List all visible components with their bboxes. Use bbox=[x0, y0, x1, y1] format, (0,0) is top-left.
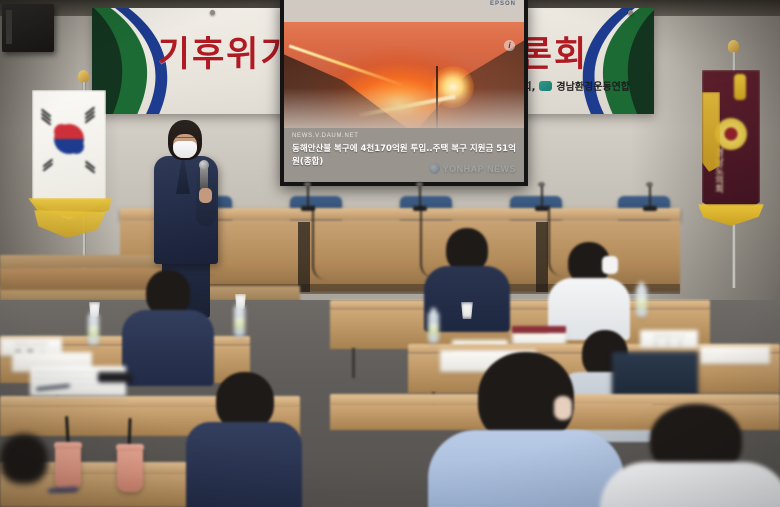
flag-tassel-icon bbox=[734, 74, 746, 100]
banner-nail-right bbox=[628, 10, 633, 15]
taeguk-symbol-icon bbox=[54, 124, 84, 154]
attendee-navy-left bbox=[122, 270, 214, 380]
attendee-white-front-right bbox=[600, 404, 780, 507]
water-bottle-4 bbox=[88, 314, 99, 345]
wall-speaker bbox=[2, 4, 54, 52]
environment-union-logo-icon bbox=[539, 81, 552, 91]
projector-brand-label: EPSON bbox=[490, 1, 516, 7]
conference-photo-scene: 기후위기와 ... 위한 토론회 일시 | 2022. 8. 9.(화) 14:… bbox=[0, 0, 780, 507]
attendee-torso bbox=[186, 422, 302, 507]
laptop-screen bbox=[612, 352, 698, 400]
mic-cable-2 bbox=[312, 206, 330, 280]
name-card-right: ◌◌◌◌◌ ◌ ◌ ◌ ◌ ◌ bbox=[640, 330, 698, 348]
flag-fringe-right-side bbox=[702, 92, 720, 172]
attendee-torso bbox=[600, 462, 780, 507]
projection-screen: EPSON YONHAP NEWS i NEWS.V.DAUM.NET 동해안산… bbox=[284, 0, 524, 182]
water-bottle-3 bbox=[636, 286, 647, 317]
attendee-blue-front bbox=[428, 352, 624, 507]
attendee-edge-left bbox=[0, 434, 60, 507]
tumbler-2 bbox=[117, 448, 143, 492]
banner-org-2: 경남환경운동연합 bbox=[556, 78, 630, 93]
news-headline: 동해안산불 복구에 4천170억원 투입..주택 복구 지원금 51억원(종합) bbox=[292, 143, 518, 169]
handout-right bbox=[700, 346, 770, 364]
wildfire-news-image bbox=[284, 22, 524, 128]
info-icon: i bbox=[504, 40, 515, 51]
flag-fringe-right bbox=[698, 204, 764, 226]
smoke-haze bbox=[284, 88, 524, 128]
banner-nail-left bbox=[210, 10, 215, 15]
audience-desk-row3-top bbox=[330, 300, 710, 309]
projection-screen-frame: EPSON YONHAP NEWS i NEWS.V.DAUM.NET 동해안산… bbox=[280, 0, 528, 186]
panel-gap-2 bbox=[536, 222, 548, 292]
attendee-face-mask bbox=[602, 256, 618, 274]
news-source-label: NEWS.V.DAUM.NET bbox=[292, 133, 359, 139]
water-bottle-1 bbox=[234, 306, 245, 337]
smartphone bbox=[98, 372, 132, 382]
flag-fringe-left-2 bbox=[34, 210, 106, 238]
attendee-torso bbox=[428, 430, 624, 507]
ceremonial-flag-stand: 경남도의회 bbox=[706, 58, 776, 308]
flag-riser bbox=[0, 255, 160, 269]
water-bottle-2 bbox=[428, 312, 439, 343]
attendee-ear bbox=[554, 396, 572, 420]
news-caption-bar: NEWS.V.DAUM.NET 동해안산불 복구에 4천170억원 투입..주택… bbox=[284, 128, 524, 182]
attendee-white-back bbox=[548, 242, 630, 334]
attendee-navy-front-left bbox=[186, 372, 302, 507]
panel-gap-1 bbox=[298, 222, 310, 292]
speaker-face-mask bbox=[173, 141, 197, 158]
speaker-hand bbox=[199, 188, 212, 203]
attendee-head bbox=[0, 434, 48, 484]
